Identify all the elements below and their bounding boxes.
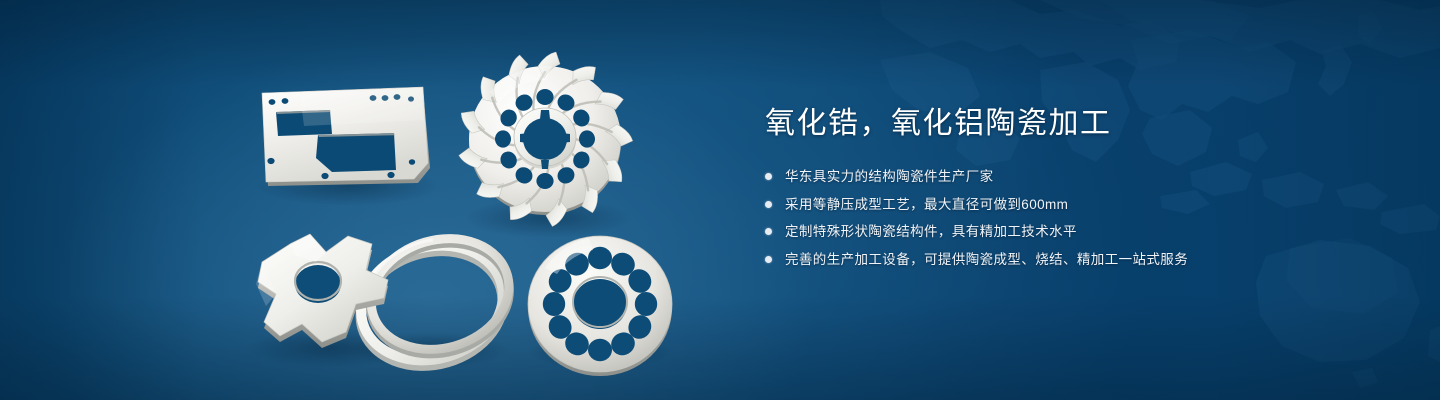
list-item: 完善的生产加工设备，可提供陶瓷成型、烧结、精加工一站式服务 [765,251,1365,268]
feature-text: 完善的生产加工设备，可提供陶瓷成型、烧结、精加工一站式服务 [785,251,1188,268]
ceramic-impeller-wheel [458,52,633,227]
bullet-dot-icon [765,256,772,263]
feature-text: 采用等静压成型工艺，最大直径可做到600mm [785,196,1068,213]
list-item: 华东具实力的结构陶瓷件生产厂家 [765,168,1365,185]
product-photo-group [0,0,720,400]
banner-copy: 氧化锆，氧化铝陶瓷加工 华东具实力的结构陶瓷件生产厂家 采用等静压成型工艺，最大… [765,104,1365,278]
list-item: 采用等静压成型工艺，最大直径可做到600mm [765,196,1365,213]
list-item: 定制特殊形状陶瓷结构件，具有精加工技术水平 [765,223,1365,240]
bullet-dot-icon [765,228,772,235]
ceramic-perforated-disc [528,236,672,376]
feature-text: 华东具实力的结构陶瓷件生产厂家 [785,168,994,185]
bullet-dot-icon [765,173,772,180]
hero-banner: 氧化锆，氧化铝陶瓷加工 华东具实力的结构陶瓷件生产厂家 采用等静压成型工艺，最大… [0,0,1440,400]
banner-headline: 氧化锆，氧化铝陶瓷加工 [765,104,1365,144]
feature-text: 定制特殊形状陶瓷结构件，具有精加工技术水平 [785,223,1077,240]
feature-list: 华东具实力的结构陶瓷件生产厂家 采用等静压成型工艺，最大直径可做到600mm 定… [765,168,1365,268]
bullet-dot-icon [765,201,772,208]
ceramic-rectangular-plate [262,87,430,186]
